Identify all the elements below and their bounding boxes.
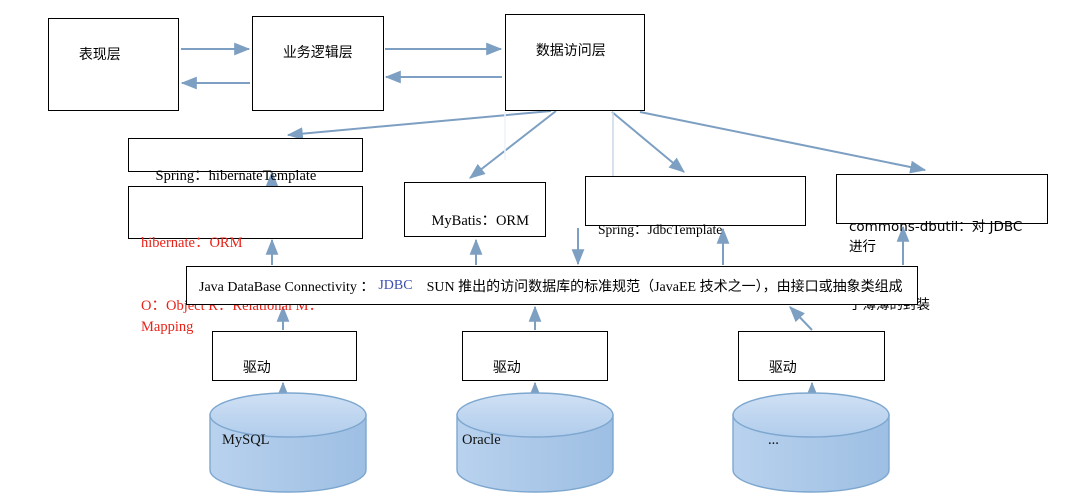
db-label-mysql: MySQL [222, 432, 270, 449]
spring-hibernate-template-label: Spring：hibernateTemplate [156, 168, 317, 184]
box-driver-mysql[interactable]: 驱动 [212, 331, 357, 381]
jdbc-prefix: Java DataBase Connectivity ： [199, 276, 374, 296]
box-spring-hibernate-template[interactable]: Spring：hibernateTemplate [128, 138, 363, 172]
business-layer-label: 业务逻辑层 [283, 45, 353, 61]
presentation-layer-label: 表现层 [79, 47, 121, 63]
box-hibernate-orm[interactable]: hibernate：ORM O：Object R：Relational M：Ma… [128, 186, 363, 239]
db-label-oracle: Oracle [462, 432, 501, 449]
data-access-layer-label: 数据访问层 [536, 43, 606, 59]
box-jdbc-spec[interactable]: Java DataBase Connectivity ： JDBC SUN 推出… [186, 266, 918, 305]
box-spring-jdbc-template[interactable]: Spring：JdbcTemplate 对 JDBC 进行了薄薄的封装 [585, 176, 806, 226]
driver-oracle-label: 驱动 [493, 360, 521, 376]
box-data-access-layer[interactable]: 数据访问层 [505, 14, 645, 111]
box-commons-dbutil[interactable]: commons-dbutil：对 JDBC 进行 了薄薄的封装 [836, 174, 1048, 224]
hibernate-orm-line1: hibernate：ORM [141, 233, 352, 254]
arrow-dao-to-spring-jdbc [612, 112, 684, 172]
box-business-layer[interactable]: 业务逻辑层 [252, 16, 384, 111]
jdbc-suffix: SUN 推出的访问数据库的标准规范（JavaEE 技术之一），由接口或抽象类组成 [417, 276, 903, 296]
driver-mysql-label: 驱动 [243, 360, 271, 376]
box-driver-other[interactable]: 驱动 [738, 331, 885, 381]
arrow-dao-to-spring-hibernate [288, 111, 551, 135]
diagram-canvas: 表现层 业务逻辑层 数据访问层 Spring：hibernateTemplate… [0, 0, 1074, 504]
mybatis-label: MyBatis：ORM [432, 213, 530, 229]
box-driver-oracle[interactable]: 驱动 [462, 331, 608, 381]
arrow-dao-to-commons-dbutil [640, 112, 925, 170]
box-presentation-layer[interactable]: 表现层 [48, 18, 179, 111]
arrow-dao-to-mybatis [470, 111, 556, 178]
db-label-other: ... [768, 432, 779, 449]
driver-other-label: 驱动 [769, 360, 797, 376]
spring-jdbc-template-line1: Spring：JdbcTemplate [598, 220, 795, 240]
commons-dbutil-line1: commons-dbutil：对 JDBC 进行 [849, 218, 1037, 257]
jdbc-keyword: JDBC [374, 278, 416, 294]
cylinder-other [733, 393, 889, 492]
box-mybatis[interactable]: MyBatis：ORM [404, 182, 546, 237]
database-cylinders [210, 393, 889, 492]
